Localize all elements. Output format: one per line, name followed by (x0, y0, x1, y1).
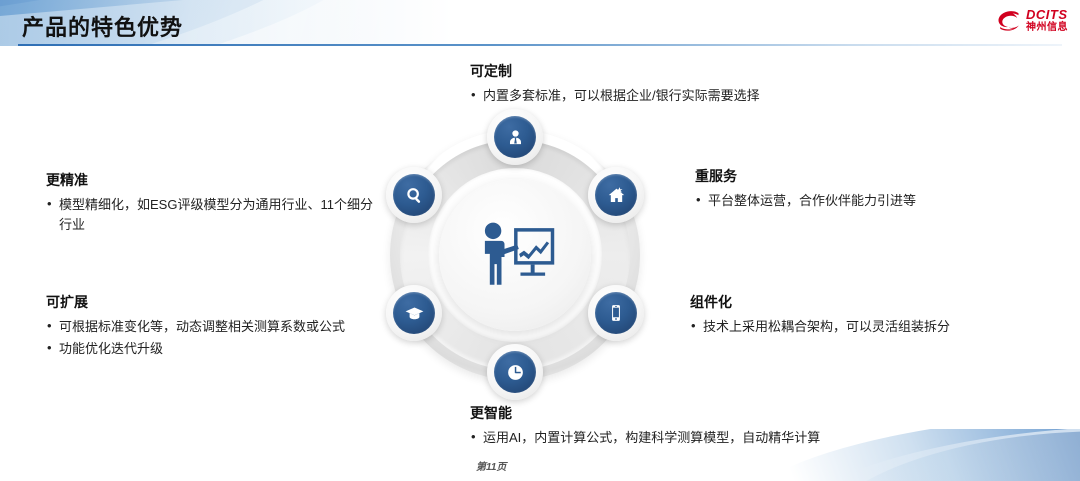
hub-and-spoke-diagram (372, 112, 658, 398)
clock-icon (494, 351, 536, 393)
page-number: 第11页 (476, 458, 506, 473)
slide: 产品的特色优势 DCITS 神州信息 可定制 内置多套标准，可以根据企业/银行实… (0, 0, 1080, 481)
smartphone-icon (595, 292, 637, 334)
block-bullet: 平台整体运营，合作伙伴能力引进等 (695, 191, 1025, 211)
block-more-accurate: 更精准 模型精细化，如ESG评级模型分为通用行业、11个细分行业 (46, 170, 376, 236)
diagram-node-top-right[interactable] (588, 167, 644, 223)
block-bullet: 技术上采用松耦合架构，可以灵活组装拆分 (690, 317, 1030, 337)
house-star-icon (595, 174, 637, 216)
logo-text-en: DCITS (1026, 8, 1068, 21)
block-heading: 重服务 (695, 166, 1025, 186)
page-title: 产品的特色优势 (22, 10, 183, 42)
block-customizable: 可定制 内置多套标准，可以根据企业/银行实际需要选择 (470, 61, 890, 108)
block-heading: 可扩展 (46, 292, 376, 312)
block-heading: 更精准 (46, 170, 376, 190)
block-service-focused: 重服务 平台整体运营，合作伙伴能力引进等 (695, 166, 1025, 213)
diagram-node-top-left[interactable] (386, 167, 442, 223)
presenter-chart-icon (473, 219, 557, 292)
block-bullet: 功能优化迭代升级 (46, 339, 376, 359)
logo-text-cn: 神州信息 (1026, 23, 1068, 33)
diagram-node-bottom[interactable] (487, 344, 543, 400)
diagram-node-bottom-right[interactable] (588, 285, 644, 341)
logo-text: DCITS 神州信息 (1026, 8, 1068, 33)
brand-logo: DCITS 神州信息 (997, 8, 1068, 33)
header-divider (18, 44, 1062, 46)
block-bullet: 可根据标准变化等，动态调整相关测算系数或公式 (46, 317, 376, 337)
user-business-icon (494, 116, 536, 158)
slide-header: 产品的特色优势 (0, 0, 1080, 46)
block-heading: 更智能 (470, 403, 940, 423)
diagram-center (439, 179, 591, 331)
diagram-node-bottom-left[interactable] (386, 285, 442, 341)
block-bullet: 模型精细化，如ESG评级模型分为通用行业、11个细分行业 (46, 195, 376, 234)
graduation-cap-icon (393, 292, 435, 334)
block-extensible: 可扩展 可根据标准变化等，动态调整相关测算系数或公式 功能优化迭代升级 (46, 292, 376, 360)
block-heading: 可定制 (470, 61, 890, 81)
block-heading: 组件化 (690, 292, 1030, 312)
magnifier-icon (393, 174, 435, 216)
footer-swoosh (740, 429, 1080, 481)
block-bullet: 内置多套标准，可以根据企业/银行实际需要选择 (470, 86, 890, 106)
diagram-node-top[interactable] (487, 109, 543, 165)
block-componentized: 组件化 技术上采用松耦合架构，可以灵活组装拆分 (690, 292, 1030, 339)
dcits-swoosh-icon (997, 10, 1021, 32)
